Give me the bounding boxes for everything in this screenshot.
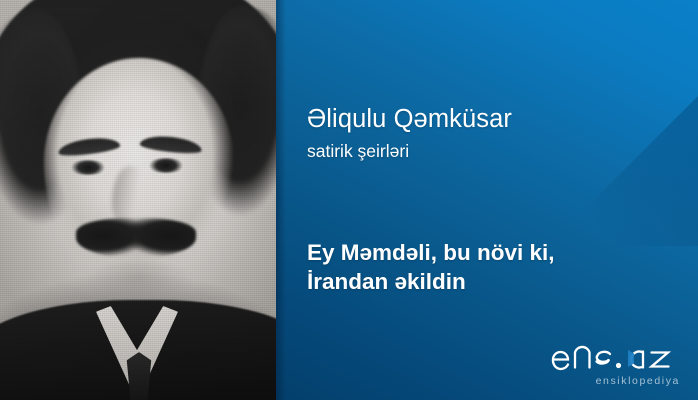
article-banner: Əliqulu Qəmküsar satirik şeirləri Ey Məm… bbox=[0, 0, 698, 400]
poem-title: Ey Məmdəli, bu növi ki, İrandan əkildin bbox=[307, 238, 680, 297]
portrait-tone-wash bbox=[0, 0, 276, 400]
logo-dot-icon bbox=[616, 363, 621, 368]
info-panel: Əliqulu Qəmküsar satirik şeirləri Ey Məm… bbox=[276, 0, 698, 400]
genre-label: satirik şeirləri bbox=[307, 141, 680, 162]
poem-title-line-1: Ey Məmdəli, bu növi ki, bbox=[307, 238, 680, 267]
poem-block: Ey Məmdəli, bu növi ki, İrandan əkildin bbox=[307, 238, 680, 297]
person-name: Əliqulu Qəmküsar bbox=[307, 104, 680, 134]
logo-tagline: ensiklopediya bbox=[550, 376, 682, 388]
panel-seam-shadow bbox=[276, 0, 286, 400]
ens-az-wordmark-icon bbox=[550, 341, 682, 375]
title-block: Əliqulu Qəmküsar satirik şeirləri bbox=[307, 104, 680, 162]
portrait-photo bbox=[0, 0, 276, 400]
site-logo[interactable]: ensiklopediya bbox=[550, 341, 682, 388]
poem-title-line-2: İrandan əkildin bbox=[307, 267, 680, 296]
